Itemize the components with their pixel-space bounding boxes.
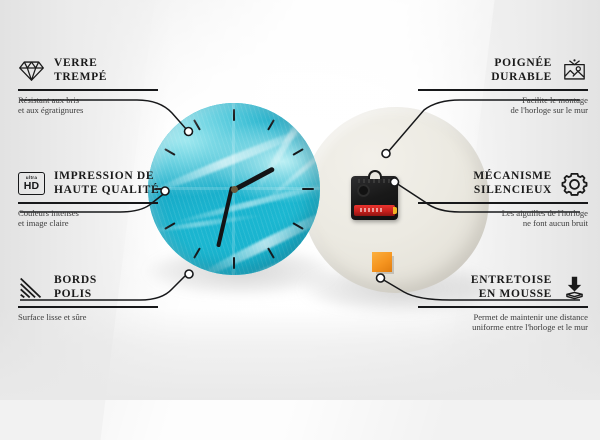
infographic-canvas: VERRE TREMPÉ Résistant aux bris et aux é… — [0, 0, 600, 400]
feature-desc-line1: Facilite le montage — [418, 95, 588, 105]
feather-streak — [148, 120, 320, 200]
feature-entretoise-en-mousse[interactable]: ENTRETOISE EN MOUSSE Permet de maintenir… — [418, 274, 588, 332]
feather-fibers — [148, 103, 320, 275]
glass-reflection — [148, 103, 320, 275]
feature-title: IMPRESSION DE HAUTE QUALITÉ — [54, 170, 159, 197]
feature-desc-line2: uniforme entre l'horloge et le mur — [418, 322, 588, 332]
hour-hand — [234, 166, 275, 191]
feature-desc-line1: Surface lisse et sûre — [18, 312, 158, 322]
battery — [354, 205, 395, 216]
movement-vents — [358, 179, 391, 183]
feature-rule — [418, 306, 588, 308]
feather-streak — [170, 177, 320, 226]
feature-verre-trempe[interactable]: VERRE TREMPÉ Résistant aux bris et aux é… — [18, 57, 158, 115]
feature-bords-polis[interactable]: BORDS POLIS Surface lisse et sûre — [18, 274, 158, 322]
feature-desc-line1: Les aiguilles de l'horloge — [418, 208, 588, 218]
feature-title: POIGNÉE DURABLE — [491, 57, 552, 84]
feature-desc-line2: ne font aucun bruit — [418, 218, 588, 228]
battery-label — [360, 208, 382, 212]
feature-impression-haute-qualite[interactable]: ultra HD IMPRESSION DE HAUTE QUALITÉ Cou… — [18, 170, 158, 228]
feature-title: ENTRETOISE EN MOUSSE — [471, 274, 552, 301]
hour-markers — [148, 103, 320, 275]
ultra-hd-icon: ultra HD — [18, 172, 45, 195]
clock-face-artwork — [148, 103, 320, 275]
feather-streak — [148, 213, 264, 235]
hanging-picture-icon — [561, 58, 588, 83]
diamond-icon — [18, 58, 45, 83]
glass-wall-clock — [148, 103, 320, 275]
arrow-down-pad-icon — [561, 275, 588, 300]
feature-desc-line1: Couleurs intenses — [18, 208, 158, 218]
feature-desc-line2: de l'horloge sur le mur — [418, 105, 588, 115]
feature-rule — [418, 202, 588, 204]
diagonal-stripes-icon — [18, 275, 45, 300]
feature-desc-line2: et aux égratignures — [18, 105, 158, 115]
feature-rule — [18, 202, 158, 204]
feature-rule — [18, 89, 158, 91]
feature-title: MÉCANISME SILENCIEUX — [473, 170, 552, 197]
minute-hand — [216, 186, 234, 247]
feature-title: BORDS POLIS — [54, 274, 97, 301]
feature-poignee-durable[interactable]: POIGNÉE DURABLE Facilite le montage — [418, 57, 588, 115]
quartz-movement — [351, 176, 398, 220]
gear-icon — [561, 171, 588, 196]
feature-rule — [418, 89, 588, 91]
feature-rule — [18, 306, 158, 308]
feature-title: VERRE TREMPÉ — [54, 57, 107, 84]
foam-spacer — [372, 252, 392, 272]
feature-desc-line1: Permet de maintenir une distance — [418, 312, 588, 322]
movement-dial — [357, 184, 370, 197]
ultra-hd-icon-large-text: HD — [24, 181, 40, 192]
hands-cap — [231, 186, 238, 193]
feature-desc-line1: Résistant aux bris — [18, 95, 158, 105]
feature-desc-line2: et image claire — [18, 218, 158, 228]
movement-hanger — [368, 170, 382, 179]
feature-mecanisme-silencieux[interactable]: MÉCANISME SILENCIEUX Les aiguilles de l'… — [418, 170, 588, 228]
